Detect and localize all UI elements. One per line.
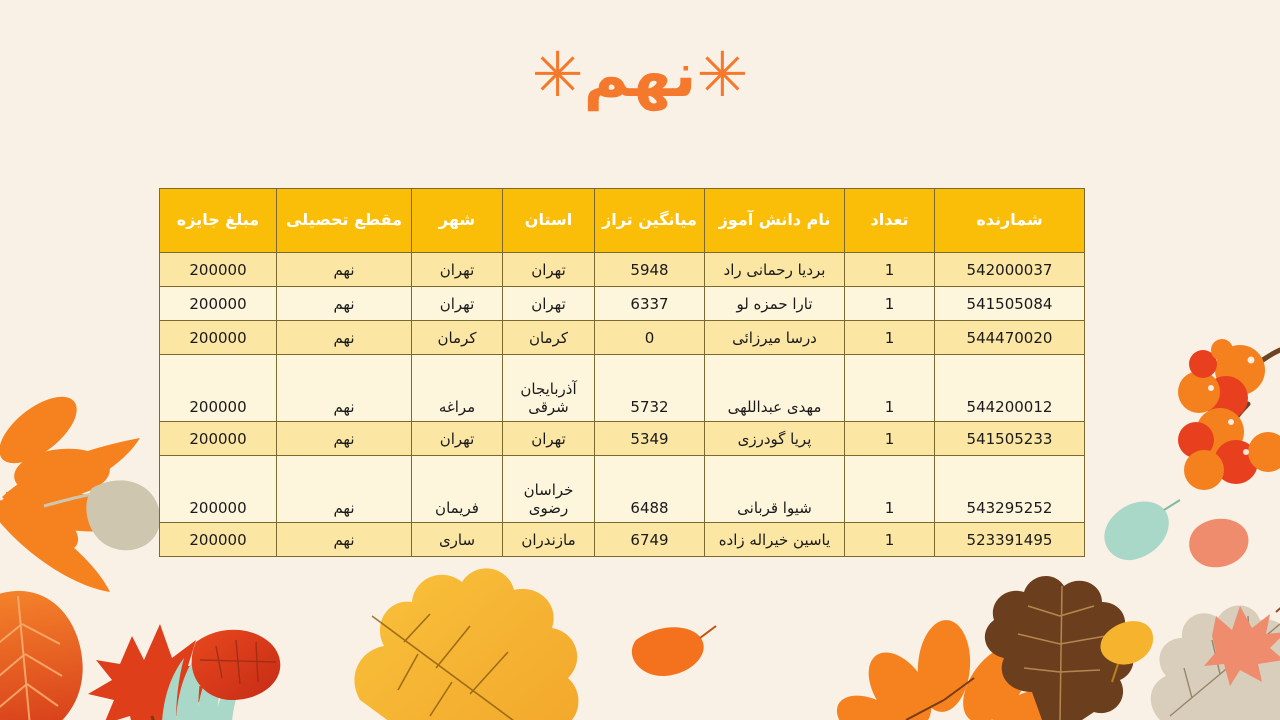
cell-avg: 5948 (595, 253, 705, 287)
column-header-province: استان (503, 189, 595, 253)
cell-counter: 542000037 (935, 253, 1085, 287)
rowan-berries-right-icon (1178, 339, 1280, 490)
cell-counter: 544200012 (935, 355, 1085, 422)
cell-grade: نهم (277, 321, 412, 355)
cell-name: درسا میرزائی (705, 321, 845, 355)
cell-province: تهران (503, 253, 595, 287)
oak-leaf-yellow-bottom-icon (354, 568, 578, 720)
table-header: شمارنده تعداد نام دانش آموز میانگین تراز… (160, 189, 1085, 253)
cell-province: کرمان (503, 321, 595, 355)
cell-avg: 6488 (595, 456, 705, 523)
grass-tuft-mint-bottom-left-icon (162, 636, 252, 720)
leaf-salmon-bottom-right-icon (1204, 580, 1280, 686)
cell-counter: 523391495 (935, 523, 1085, 557)
cell-qty: 1 (845, 523, 935, 557)
leaf-salmon-right-icon (1189, 519, 1248, 568)
page-title: ✳نهم✳ (0, 44, 1280, 106)
cell-prize: 200000 (160, 456, 277, 523)
cell-city: فریمان (412, 456, 503, 523)
cell-counter: 543295252 (935, 456, 1085, 523)
cell-grade: نهم (277, 287, 412, 321)
cell-city: تهران (412, 253, 503, 287)
table-row: 5432952521شیوا قربانی6488خراسان رضویفریم… (160, 456, 1085, 523)
oak-leaf-brown-bottom-icon (985, 576, 1134, 720)
column-header-avg: میانگین تراز (595, 189, 705, 253)
header-row: شمارنده تعداد نام دانش آموز میانگین تراز… (160, 189, 1085, 253)
cell-province: تهران (503, 287, 595, 321)
table-row: 5415052331پریا گودرزی5349تهرانتهراننهم20… (160, 422, 1085, 456)
cell-name: مهدی عبداللهی (705, 355, 845, 422)
column-header-prize: مبلغ جایزه (160, 189, 277, 253)
cell-city: ساری (412, 523, 503, 557)
cell-qty: 1 (845, 321, 935, 355)
cell-province: مازندران (503, 523, 595, 557)
cell-prize: 200000 (160, 523, 277, 557)
cell-prize: 200000 (160, 422, 277, 456)
maple-leaf-red-bottom-left-icon (88, 624, 222, 720)
cell-qty: 1 (845, 456, 935, 523)
table-row: 5415050841تارا حمزه لو6337تهرانتهراننهم2… (160, 287, 1085, 321)
cell-name: پریا گودرزی (705, 422, 845, 456)
table-row: 5442000121مهدی عبداللهی5732آذربایجان شرق… (160, 355, 1085, 422)
cell-avg: 5349 (595, 422, 705, 456)
tiny-leaf-yellow-bottom-icon (1100, 621, 1153, 682)
cell-city: مراغه (412, 355, 503, 422)
oak-leaf-beige-bottom-right-icon (1151, 605, 1280, 720)
tiny-leaf-orange-bottom-icon (632, 626, 716, 676)
cell-counter: 541505233 (935, 422, 1085, 456)
cell-grade: نهم (277, 253, 412, 287)
cell-province: خراسان رضوی (503, 456, 595, 523)
cell-qty: 1 (845, 422, 935, 456)
cell-city: تهران (412, 422, 503, 456)
cell-name: بردیا رحمانی راد (705, 253, 845, 287)
cell-grade: نهم (277, 355, 412, 422)
column-header-city: شهر (412, 189, 503, 253)
cell-avg: 6749 (595, 523, 705, 557)
cell-prize: 200000 (160, 355, 277, 422)
column-header-qty: تعداد (845, 189, 935, 253)
cell-city: کرمان (412, 321, 503, 355)
table-row: 5420000371بردیا رحمانی راد5948تهرانتهران… (160, 253, 1085, 287)
cell-counter: 541505084 (935, 287, 1085, 321)
column-header-counter: شمارنده (935, 189, 1085, 253)
cell-grade: نهم (277, 456, 412, 523)
cell-grade: نهم (277, 422, 412, 456)
awards-table-container: شمارنده تعداد نام دانش آموز میانگین تراز… (160, 188, 1085, 557)
cell-qty: 1 (845, 355, 935, 422)
leaf-mint-right-icon (1104, 500, 1180, 560)
awards-table: شمارنده تعداد نام دانش آموز میانگین تراز… (159, 188, 1085, 557)
cell-qty: 1 (845, 287, 935, 321)
cell-name: شیوا قربانی (705, 456, 845, 523)
cell-prize: 200000 (160, 287, 277, 321)
cell-province: تهران (503, 422, 595, 456)
cell-grade: نهم (277, 523, 412, 557)
table-row: 5444700201درسا میرزائی0کرمانکرماننهم2000… (160, 321, 1085, 355)
table-body: 5420000371بردیا رحمانی راد5948تهرانتهران… (160, 253, 1085, 557)
cell-prize: 200000 (160, 321, 277, 355)
cell-avg: 6337 (595, 287, 705, 321)
cell-name: یاسین خیراله زاده (705, 523, 845, 557)
long-leaf-orange-left-icon (0, 583, 92, 720)
cell-prize: 200000 (160, 253, 277, 287)
cell-avg: 0 (595, 321, 705, 355)
small-leaf-red-bottom-icon (192, 630, 281, 700)
cell-qty: 1 (845, 253, 935, 287)
cell-counter: 544470020 (935, 321, 1085, 355)
cell-city: تهران (412, 287, 503, 321)
chestnut-leaf-orange-left-icon (0, 384, 150, 592)
chestnut-leaf-orange-bottom-icon (828, 618, 1070, 720)
cell-avg: 5732 (595, 355, 705, 422)
cell-name: تارا حمزه لو (705, 287, 845, 321)
cell-province: آذربایجان شرقی (503, 355, 595, 422)
column-header-name: نام دانش آموز (705, 189, 845, 253)
small-leaf-beige-left-icon (44, 480, 160, 550)
table-row: 5233914951یاسین خیراله زاده6749مازندرانس… (160, 523, 1085, 557)
column-header-grade: مقطع تحصیلی (277, 189, 412, 253)
